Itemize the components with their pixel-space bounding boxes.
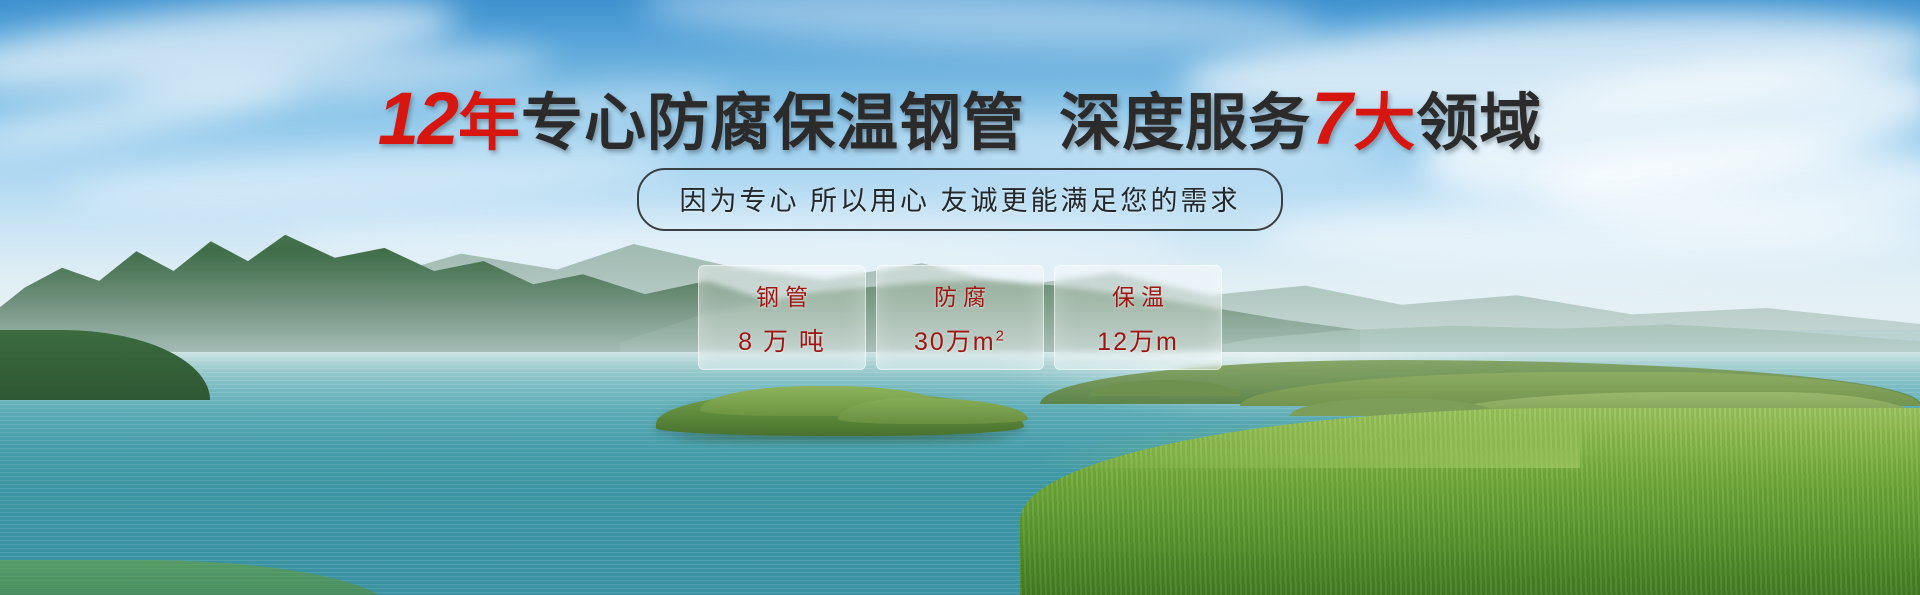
headline-segment-one: 专心防腐保温钢管 — [521, 89, 1025, 158]
stat-card-label: 钢管 — [750, 278, 814, 312]
headline-fields-number: 7 — [1311, 77, 1353, 160]
stat-card-label: 保温 — [1106, 278, 1170, 312]
stat-card-value: 30万m2 — [914, 322, 1006, 358]
headline-segment-three: 领域 — [1416, 89, 1542, 158]
stat-card-group: 钢管 8 万 吨 防腐 30万m2 保温 12万m — [0, 265, 1920, 370]
headline-segment-two: 深度服务 — [1059, 89, 1311, 158]
stat-card-steel-pipe[interactable]: 钢管 8 万 吨 — [698, 265, 866, 370]
stat-card-label: 防腐 — [928, 278, 992, 312]
stat-value-text: 30万m — [914, 328, 996, 356]
stat-value-superscript: 2 — [996, 327, 1006, 344]
hero-banner: 12年专心防腐保温钢管深度服务7大领域 因为专心 所以用心 友诚更能满足您的需求… — [0, 0, 1920, 595]
stat-card-value: 12万m — [1097, 322, 1179, 358]
banner-headline: 12年专心防腐保温钢管深度服务7大领域 — [0, 82, 1920, 156]
subtitle-pill: 因为专心 所以用心 友诚更能满足您的需求 — [637, 168, 1282, 231]
stat-value-text: 8 万 吨 — [738, 328, 826, 356]
headline-years-unit: 年 — [458, 89, 521, 158]
headline-years-number: 12 — [378, 77, 458, 160]
stat-card-insulation[interactable]: 保温 12万m — [1054, 265, 1222, 370]
stat-value-text: 12万m — [1097, 328, 1179, 356]
cloud-shape — [639, 0, 1321, 60]
stat-card-value: 8 万 吨 — [738, 322, 826, 358]
subtitle-row: 因为专心 所以用心 友诚更能满足您的需求 — [0, 168, 1920, 231]
stat-card-anticorrosion[interactable]: 防腐 30万m2 — [876, 265, 1044, 370]
headline-fields-big: 大 — [1353, 89, 1416, 158]
